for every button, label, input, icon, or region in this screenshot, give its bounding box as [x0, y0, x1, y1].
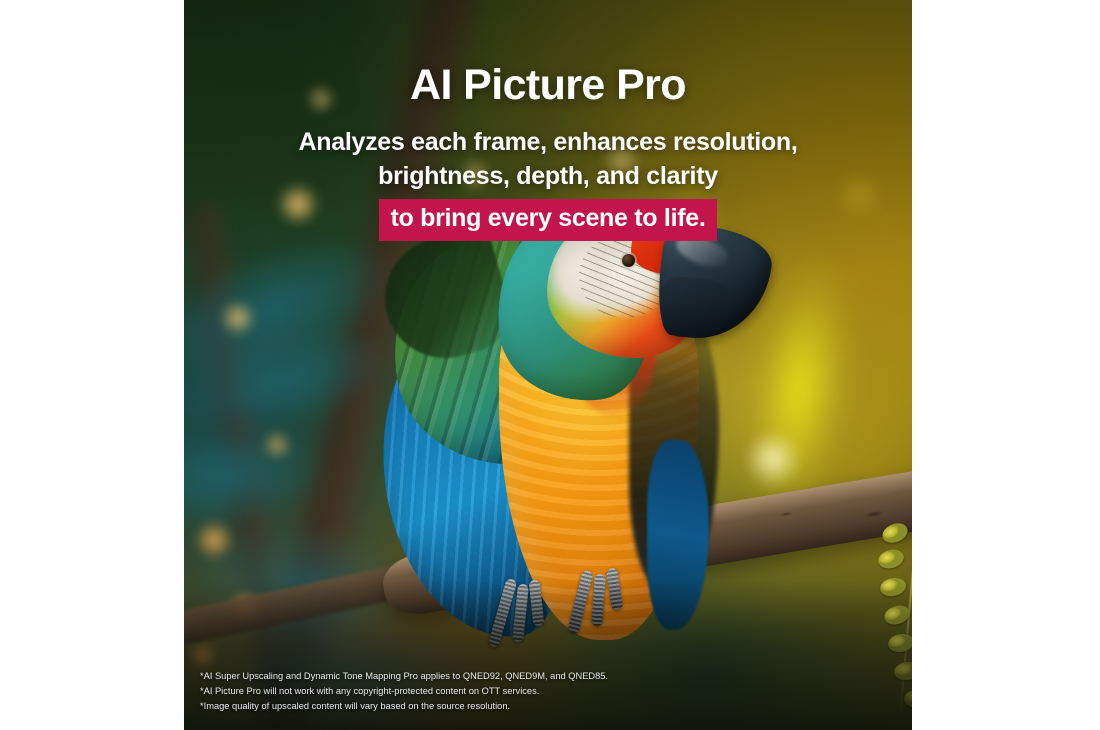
top-gradient-overlay	[184, 0, 912, 270]
footnote-line-2: *AI Picture Pro will not work with any c…	[200, 684, 608, 699]
bokeh-light	[744, 430, 802, 488]
bokeh-light	[194, 520, 234, 560]
footnote-line-3: *Image quality of upscaled content will …	[200, 699, 608, 714]
footnote-line-1: *AI Super Upscaling and Dynamic Tone Map…	[200, 669, 608, 684]
footnotes: *AI Super Upscaling and Dynamic Tone Map…	[200, 669, 608, 714]
bokeh-light	[262, 430, 292, 460]
hero-banner: AI Picture Pro Analyzes each frame, enha…	[184, 0, 912, 730]
leaf-icon	[880, 520, 911, 546]
bokeh-light	[220, 300, 256, 336]
leaf-icon	[876, 547, 906, 571]
page-root: AI Picture Pro Analyzes each frame, enha…	[0, 0, 1100, 730]
